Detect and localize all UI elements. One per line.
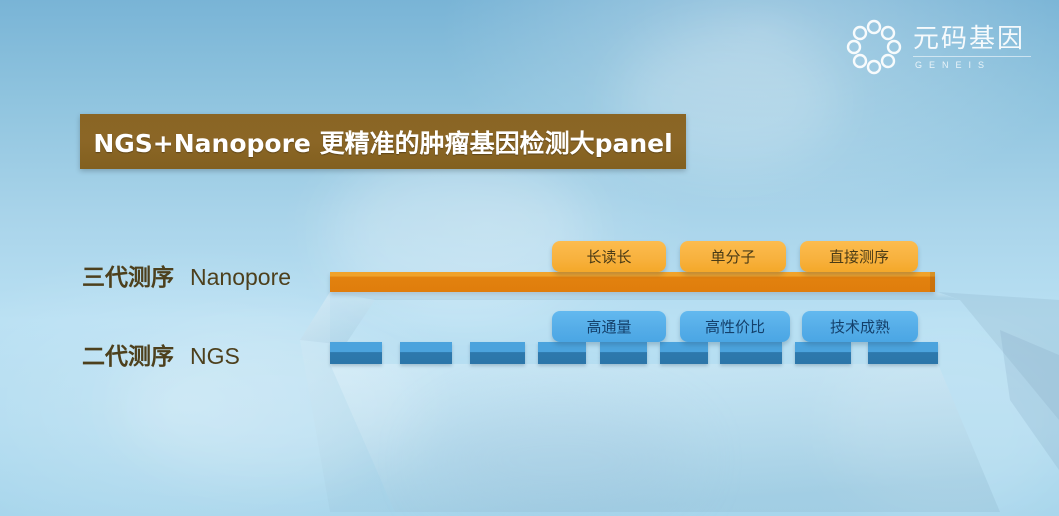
- slide-title: NGS+Nanopore 更精准的肿瘤基因检测大panel: [93, 124, 672, 160]
- slide-canvas: 元码基因 GENEIS NGS+Nanopore 更精准的肿瘤基因检测大pane…: [0, 0, 1059, 516]
- ngs-bar-segment: [400, 342, 452, 364]
- ngs-bar-segment: [720, 342, 782, 364]
- row-generation-label-nanopore: 三代测序: [82, 258, 174, 292]
- row-label-ngs: 二代测序 NGS: [82, 337, 240, 371]
- ngs-bar-segment: [330, 342, 382, 364]
- ngs-bar-segment: [660, 342, 708, 364]
- ngs-segmented-bar: [330, 342, 938, 364]
- logo-english-name: GENEIS: [913, 60, 991, 70]
- ngs-bar-segment: [538, 342, 586, 364]
- feature-tag-ngs-1[interactable]: 高通量: [552, 311, 666, 342]
- ngs-bar-segment: [470, 342, 525, 364]
- feature-tag-nanopore-2[interactable]: 单分子: [680, 241, 786, 272]
- nanopore-continuous-bar: [330, 272, 935, 292]
- logo-chinese-name: 元码基因: [913, 26, 1025, 54]
- ngs-bar-segment: [868, 342, 938, 364]
- row-platform-label-ngs: NGS: [190, 343, 240, 370]
- dna-ring-logo-icon: [845, 18, 903, 76]
- row-label-nanopore: 三代测序 Nanopore: [82, 258, 291, 292]
- ngs-bar-segment: [600, 342, 647, 364]
- feature-tag-nanopore-1[interactable]: 长读长: [552, 241, 666, 272]
- row-platform-label-nanopore: Nanopore: [190, 264, 291, 291]
- row-generation-label-ngs: 二代测序: [82, 337, 174, 371]
- logo-divider: [913, 56, 1031, 57]
- brand-logo: 元码基因 GENEIS: [845, 16, 1045, 78]
- ngs-bar-segment: [795, 342, 851, 364]
- feature-tag-ngs-3[interactable]: 技术成熟: [802, 311, 918, 342]
- feature-tag-nanopore-3[interactable]: 直接测序: [800, 241, 918, 272]
- slide-title-banner: NGS+Nanopore 更精准的肿瘤基因检测大panel: [80, 114, 686, 169]
- logo-wordmark: 元码基因 GENEIS: [913, 24, 1031, 70]
- background-blob: [330, 150, 590, 320]
- feature-tag-ngs-2[interactable]: 高性价比: [680, 311, 790, 342]
- background-blob: [430, 400, 690, 516]
